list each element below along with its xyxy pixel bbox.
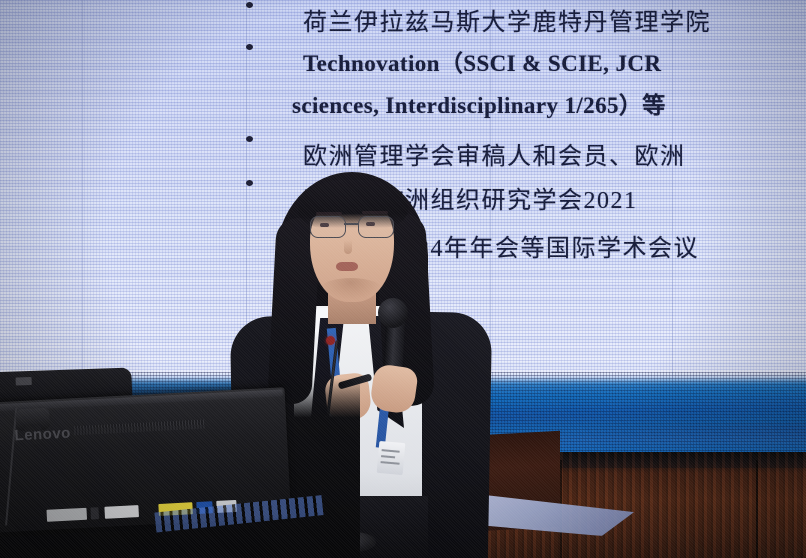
wood-panel-seam (756, 460, 758, 558)
slide-bullet-line-1: 荷兰伊拉兹马斯大学鹿特丹管理学院 (246, 2, 711, 37)
eyeglasses-icon (308, 216, 396, 236)
monitor-port (90, 507, 99, 519)
eyeglass-bridge (344, 223, 358, 225)
badge-text-line (381, 461, 400, 465)
chair-label-tag (16, 377, 32, 386)
eyebrow-right (362, 211, 388, 214)
eyebrow-left (316, 212, 342, 215)
badge-text-line (381, 455, 395, 458)
bullet-icon (246, 2, 253, 8)
lenovo-monitor-rear: Lenovo (0, 387, 291, 533)
slide-bullet-line-2: Technovation（SSCI & SCIE, JCR (246, 44, 661, 78)
eyeglass-lens-left (310, 216, 346, 238)
monitor-brand-label: Lenovo (14, 424, 71, 444)
slide-wrap-line-2b: sciences, Interdisciplinary 1/265）等 (292, 86, 666, 120)
chin-shadow (320, 278, 382, 300)
name-badge (377, 441, 406, 475)
monitor-vent-grille (74, 419, 204, 435)
eyeglass-lens-right (358, 216, 394, 238)
slide-line-text: 荷兰伊拉兹马斯大学鹿特丹管理学院 (303, 2, 711, 37)
nose (344, 240, 352, 254)
badge-text-line (382, 449, 400, 453)
presentation-photo: 荷兰伊拉兹马斯大学鹿特丹管理学院 Technovation（SSCI & SCI… (0, 0, 806, 558)
bullet-icon (246, 136, 253, 142)
slide-line-text: Technovation（SSCI & SCIE, JCR (303, 44, 661, 78)
mouth (336, 262, 358, 271)
monitor-certification-label (104, 505, 139, 519)
monitor-port-label (46, 508, 87, 522)
microphone-indicator-light (326, 336, 335, 345)
bullet-icon (246, 44, 253, 50)
slide-line-text: sciences, Interdisciplinary 1/265）等 (292, 86, 666, 120)
